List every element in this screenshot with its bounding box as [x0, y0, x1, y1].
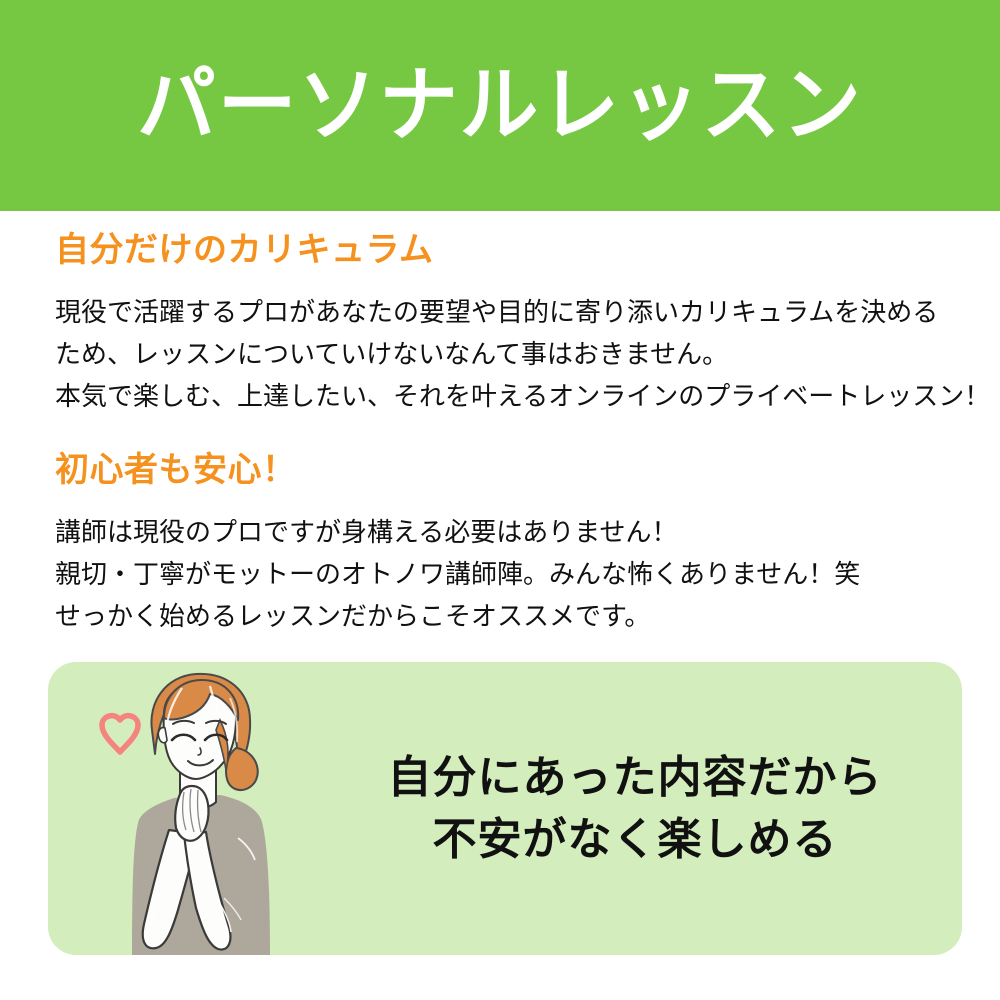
body-line: 講師は現役のプロですが身構える必要はありません！: [55, 511, 860, 553]
header-banner: パーソナルレッスン: [0, 0, 1000, 211]
section-heading-curriculum: 自分だけのカリキュラム: [55, 232, 990, 269]
body-line: ため、レッスンについていけないなんて事はおきません。: [55, 333, 990, 375]
section-beginners: 初心者も安心！ 講師は現役のプロですが身構える必要はありません！ 親切・丁寧がモ…: [55, 452, 860, 637]
section-body-curriculum: 現役で活躍するプロがあなたの要望や目的に寄り添いカリキュラムを決める ため、レッ…: [55, 291, 990, 417]
woman-illustration: [70, 662, 330, 955]
section-body-beginners: 講師は現役のプロですが身構える必要はありません！ 親切・丁寧がモットーのオトノワ…: [55, 511, 860, 637]
promo-line: 自分にあった内容だから: [388, 751, 883, 805]
promo-text-block: 自分にあった内容だから 不安がなく楽しめる: [308, 662, 962, 955]
section-curriculum: 自分だけのカリキュラム 現役で活躍するプロがあなたの要望や目的に寄り添いカリキュ…: [55, 232, 990, 417]
heart-icon: [102, 716, 138, 752]
body-line: せっかく始めるレッスンだからこそオススメです。: [55, 595, 860, 637]
body-line: 親切・丁寧がモットーのオトノワ講師陣。みんな怖くありません！笑: [55, 553, 860, 595]
poster-page: パーソナルレッスン 自分だけのカリキュラム 現役で活躍するプロがあなたの要望や目…: [0, 0, 1000, 1000]
promo-card: 自分にあった内容だから 不安がなく楽しめる: [48, 662, 962, 955]
body-line: 現役で活躍するプロがあなたの要望や目的に寄り添いカリキュラムを決める: [55, 291, 990, 333]
promo-line: 不安がなく楽しめる: [433, 813, 838, 867]
page-title: パーソナルレッスン: [137, 65, 863, 147]
body-line: 本気で楽しむ、上達したい、それを叶えるオンラインのプライベートレッスン！: [55, 375, 990, 417]
section-heading-beginners: 初心者も安心！: [55, 452, 860, 489]
